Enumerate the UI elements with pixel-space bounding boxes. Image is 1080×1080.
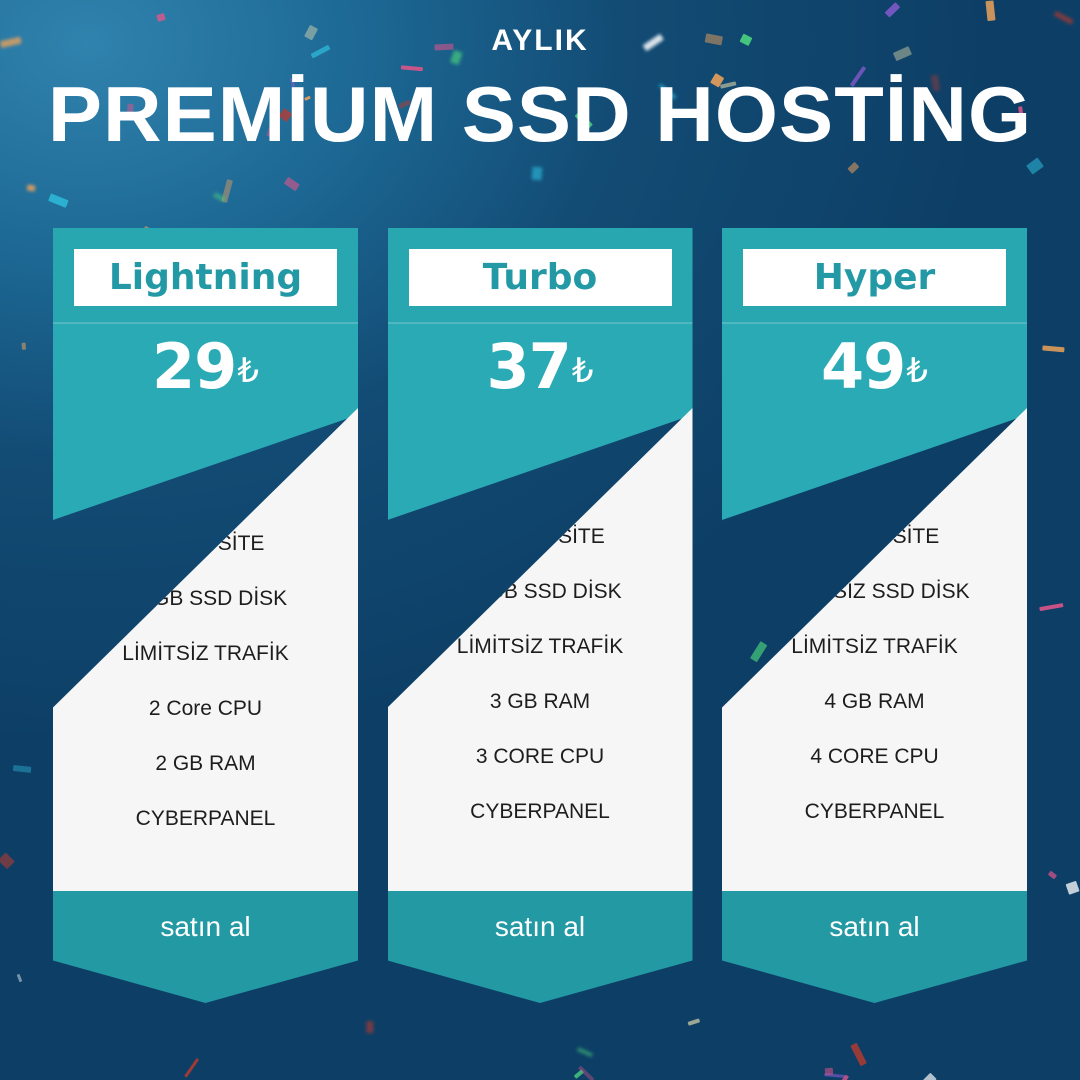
price-amount: 49 [821, 330, 905, 403]
plan-name: Hyper [814, 260, 936, 296]
poster-header: AYLIK PREMİUM SSD HOSTİNG [0, 26, 1080, 156]
plan-name: Lightning [109, 260, 302, 296]
price-amount: 37 [487, 330, 571, 403]
currency-symbol: ₺ [237, 351, 259, 391]
buy-button-label: satın al [495, 913, 585, 941]
list-item: 4 GB RAM [732, 691, 1017, 712]
list-item: LİMİTSİZ TRAFİK [732, 636, 1017, 657]
list-item: 5 WEB SİTE [63, 533, 348, 554]
plan-name-band: Hyper [743, 249, 1006, 306]
plan-price: 49₺ [722, 336, 1027, 398]
list-item: LİMİTSİZ SSD DİSK [732, 581, 1017, 602]
pricing-poster: AYLIK PREMİUM SSD HOSTİNG Lightning 29₺ … [0, 0, 1080, 1080]
list-item: 3 GB RAM [398, 691, 683, 712]
list-item: 15 WEB SİTE [732, 526, 1017, 547]
list-item: CYBERPANEL [732, 801, 1017, 822]
list-item: 2 GB RAM [63, 753, 348, 774]
list-item: 2 Core CPU [63, 698, 348, 719]
list-item: LİMİTSİZ TRAFİK [63, 643, 348, 664]
pricing-cards: Lightning 29₺ 5 WEB SİTE 20 GB SSD DİSK … [53, 228, 1027, 1018]
page-title: PREMİUM SSD HOSTİNG [0, 74, 1080, 156]
billing-period-label: AYLIK [0, 26, 1080, 56]
buy-button-lightning[interactable]: satın al [53, 891, 358, 1003]
buy-button-label: satın al [160, 913, 250, 941]
list-item: 3 CORE CPU [398, 746, 683, 767]
plan-name-band: Lightning [74, 249, 337, 306]
list-item: CYBERPANEL [398, 801, 683, 822]
pricing-card-turbo[interactable]: Turbo 37₺ 10 WEB SİTE 40 GB SSD DİSK LİM… [388, 228, 693, 1018]
header-divider [388, 322, 693, 324]
pricing-card-lightning[interactable]: Lightning 29₺ 5 WEB SİTE 20 GB SSD DİSK … [53, 228, 358, 1018]
currency-symbol: ₺ [572, 351, 594, 391]
list-item: 10 WEB SİTE [398, 526, 683, 547]
plan-price: 29₺ [53, 336, 358, 398]
price-amount: 29 [152, 330, 236, 403]
currency-symbol: ₺ [906, 351, 928, 391]
buy-button-label: satın al [829, 913, 919, 941]
list-item: CYBERPANEL [63, 808, 348, 829]
buy-button-hyper[interactable]: satın al [722, 891, 1027, 1003]
header-divider [53, 322, 358, 324]
plan-name: Turbo [483, 260, 598, 296]
list-item: 40 GB SSD DİSK [398, 581, 683, 602]
list-item: 4 CORE CPU [732, 746, 1017, 767]
list-item: 20 GB SSD DİSK [63, 588, 348, 609]
plan-name-band: Turbo [409, 249, 672, 306]
header-divider [722, 322, 1027, 324]
plan-price: 37₺ [388, 336, 693, 398]
buy-button-turbo[interactable]: satın al [388, 891, 693, 1003]
pricing-card-hyper[interactable]: Hyper 49₺ 15 WEB SİTE LİMİTSİZ SSD DİSK … [722, 228, 1027, 1018]
list-item: LİMİTSİZ TRAFİK [398, 636, 683, 657]
